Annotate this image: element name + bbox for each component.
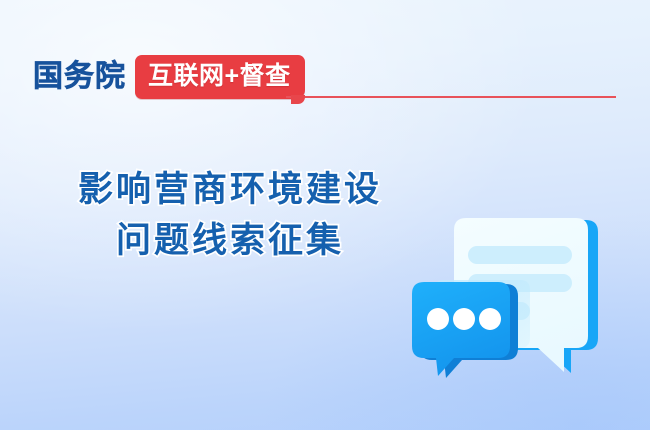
badge-notch-shape xyxy=(291,95,305,104)
program-badge: 互联网+督查 xyxy=(135,55,305,99)
front-bubble-dots xyxy=(427,308,501,330)
page-title: 影响营商环境建设 问题线索征集 xyxy=(0,164,460,266)
page-title-line-1: 影响营商环境建设 xyxy=(0,164,460,215)
chat-bubbles-illustration xyxy=(396,198,636,406)
program-badge-label: 互联网+督查 xyxy=(148,62,291,90)
header-divider-rule xyxy=(286,96,616,98)
header: 国务院 互联网+督查 xyxy=(33,55,305,99)
page-title-line-2: 问题线索征集 xyxy=(0,215,460,266)
banner-root: 国务院 互联网+督查 影响营商环境建设 问题线索征集 xyxy=(0,0,650,430)
organization-name: 国务院 xyxy=(33,62,126,92)
